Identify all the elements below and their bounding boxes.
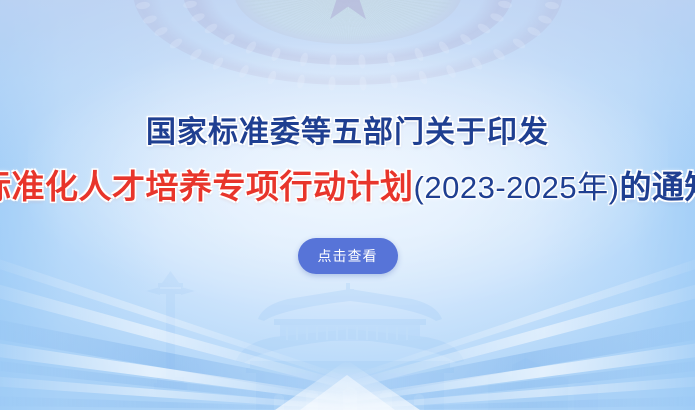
policy-banner: 国家标准委等五部门关于印发 标准化人才培养专项行动计划(2023-2025年)的… — [0, 0, 695, 410]
view-details-button[interactable]: 点击查看 — [298, 238, 398, 274]
page-title-suffix: 的通知 — [619, 169, 695, 205]
page-title-line-2: 标准化人才培养专项行动计划(2023-2025年)的通知 — [0, 170, 695, 203]
banner-content: 国家标准委等五部门关于印发 标准化人才培养专项行动计划(2023-2025年)的… — [0, 0, 695, 410]
page-title-line-1: 国家标准委等五部门关于印发 — [146, 118, 549, 148]
page-title-year-range: (2023-2025年) — [414, 170, 620, 205]
page-title-highlight: 标准化人才培养专项行动计划 — [0, 168, 414, 205]
